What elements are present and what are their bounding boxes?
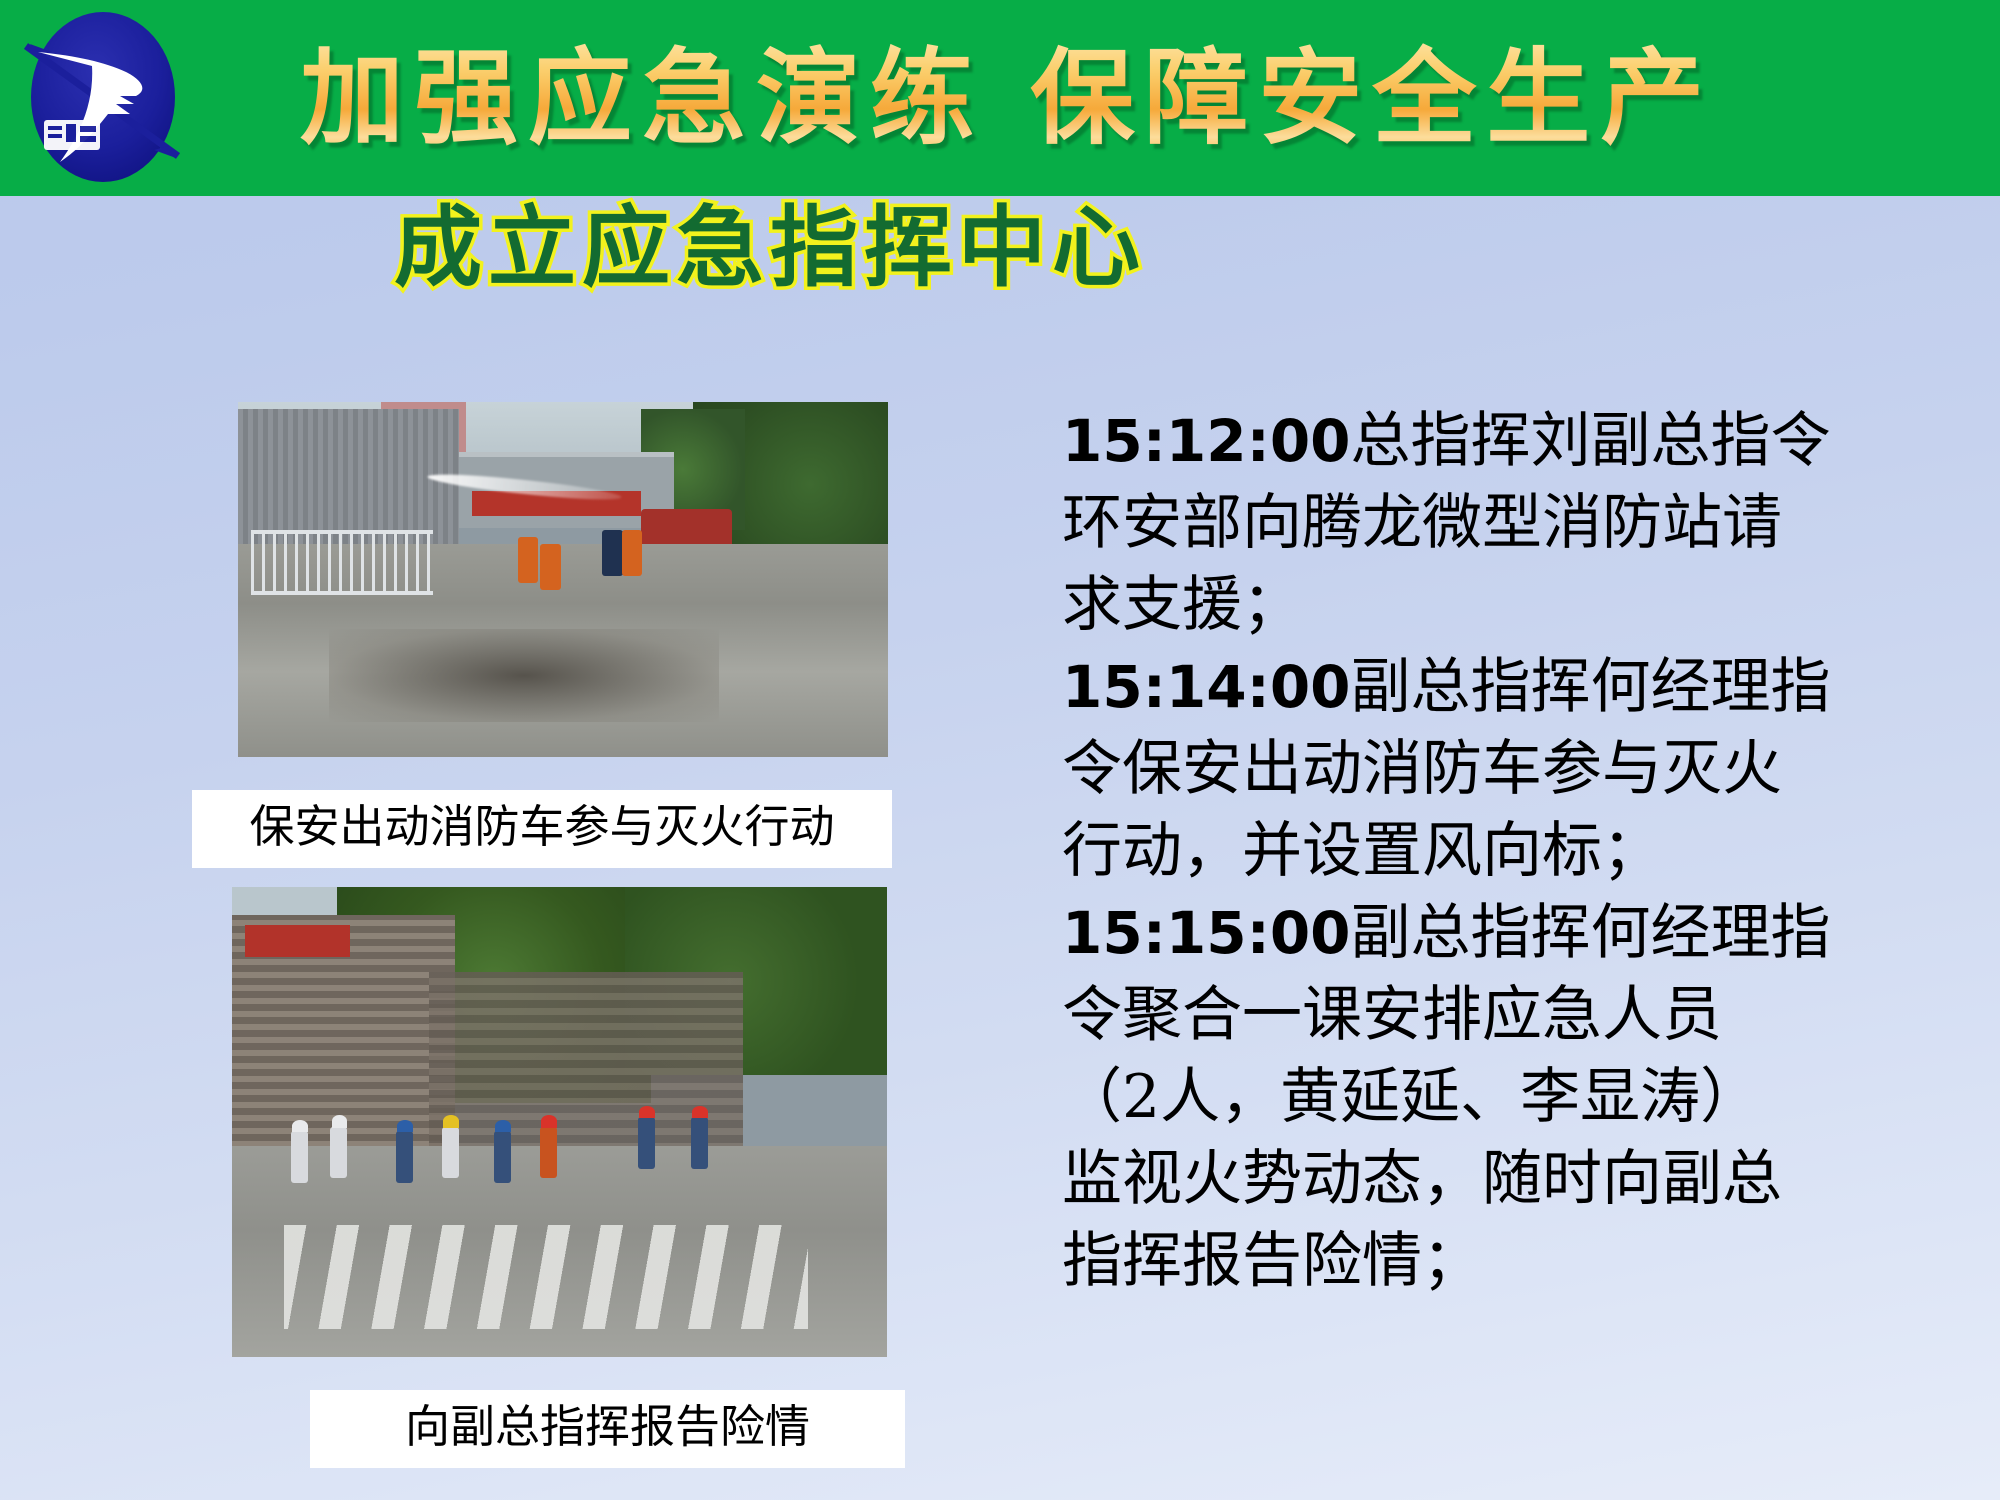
timeline-line-text: 令保安出动消防车参与灭火: [1062, 734, 1782, 804]
timeline-line-text: 行动，并设置风向标；: [1062, 816, 1662, 886]
timestamp: 15:14:00: [1062, 653, 1351, 721]
timeline-line-text: 指挥报告险情；: [1062, 1226, 1482, 1296]
timeline-line-text: 令聚合一课安排应急人员: [1062, 980, 1722, 1050]
timeline-line: 15:15:00副总指挥何经理指: [1062, 892, 1932, 974]
timeline-line: 环安部向腾龙微型消防站请: [1062, 482, 1932, 564]
timeline-line: 15:14:00副总指挥何经理指: [1062, 646, 1932, 728]
timeline-line-text: 副总指挥何经理指: [1351, 898, 1831, 968]
photo-security-fire-truck: [238, 402, 888, 757]
header-banner: 加强应急演练 保障安全生产: [0, 0, 2000, 196]
photo-column: 保安出动消防车参与灭火行动: [0, 390, 940, 1500]
company-eagle-logo-icon: [8, 4, 198, 190]
timestamp: 15:12:00: [1062, 407, 1351, 475]
timeline-line-text: 环安部向腾龙微型消防站请: [1062, 488, 1782, 558]
timeline-line-text: （2人，黄延延、李显涛）: [1062, 1062, 1760, 1132]
banner-title: 加强应急演练 保障安全生产: [300, 28, 1980, 168]
timeline-line: （2人，黄延延、李显涛）: [1062, 1056, 1932, 1138]
timestamp: 15:15:00: [1062, 899, 1351, 967]
timeline-line-text: 副总指挥何经理指: [1351, 652, 1831, 722]
timeline-line: 监视火势动态，随时向副总: [1062, 1138, 1932, 1220]
timeline-line: 令保安出动消防车参与灭火: [1062, 728, 1932, 810]
page-title: 成立应急指挥中心: [0, 196, 1540, 300]
photo-report-to-deputy-commander: [232, 887, 887, 1357]
timeline-line-text: 监视火势动态，随时向副总: [1062, 1144, 1782, 1214]
slide-root: 加强应急演练 保障安全生产 成立应急指挥中心: [0, 0, 2000, 1500]
timeline-line: 求支援；: [1062, 564, 1932, 646]
timeline-line: 15:12:00总指挥刘副总指令: [1062, 400, 1932, 482]
timeline-text-block: 15:12:00总指挥刘副总指令 环安部向腾龙微型消防站请 求支援； 15:14…: [1062, 400, 1932, 1302]
timeline-line: 行动，并设置风向标；: [1062, 810, 1932, 892]
timeline-line-text: 求支援；: [1062, 570, 1302, 640]
timeline-line: 令聚合一课安排应急人员: [1062, 974, 1932, 1056]
photo-caption-2: 向副总指挥报告险情: [310, 1390, 905, 1468]
timeline-line-text: 总指挥刘副总指令: [1351, 406, 1831, 476]
photo-caption-1: 保安出动消防车参与灭火行动: [192, 790, 892, 868]
timeline-line: 指挥报告险情；: [1062, 1220, 1932, 1302]
